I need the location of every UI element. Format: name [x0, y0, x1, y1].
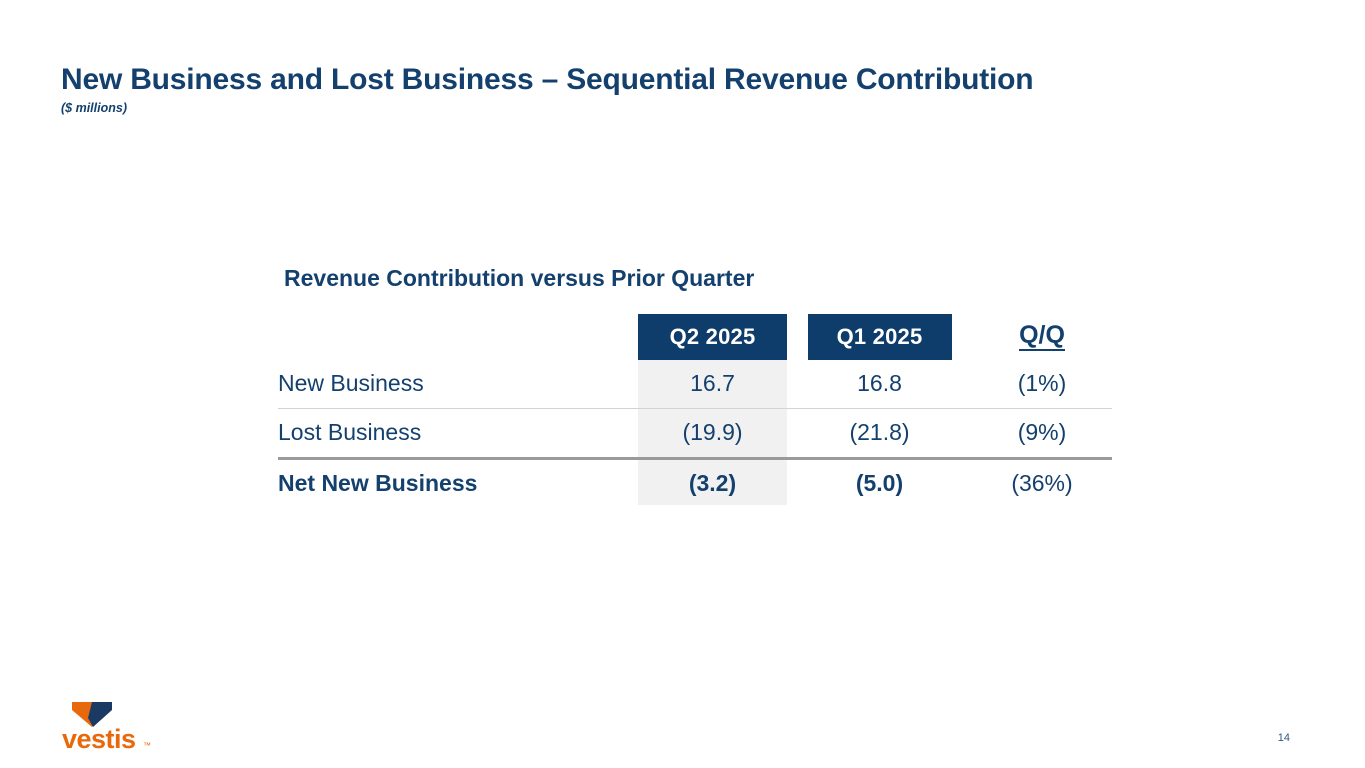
row-label-lost-business: Lost Business — [278, 408, 638, 458]
revenue-contribution-table: Q2 2025 Q1 2025 Q/Q New Business 16.7 16… — [278, 314, 1112, 508]
cell-lost-business-qq: (9%) — [972, 408, 1112, 458]
table-row: Net New Business (3.2) (5.0) (36%) — [278, 458, 1112, 508]
header-cell-qq: Q/Q — [972, 314, 1112, 360]
row-label-new-business: New Business — [278, 360, 638, 409]
header-label-qq: Q/Q — [1019, 322, 1065, 351]
cell-new-business-qq: (1%) — [972, 360, 1112, 409]
vestis-logo-mark: vestis ™ — [62, 700, 154, 752]
units-note: ($ millions) — [61, 102, 1033, 115]
slide-canvas: New Business and Lost Business – Sequent… — [0, 0, 1365, 768]
table-row: New Business 16.7 16.8 (1%) — [278, 360, 1112, 409]
cell-lost-business-q2: (19.9) — [638, 408, 787, 458]
title-block: New Business and Lost Business – Sequent… — [61, 63, 1033, 115]
cell-net-new-business-qq: (36%) — [972, 458, 1112, 508]
page-number: 14 — [1278, 732, 1290, 744]
header-badge-q2: Q2 2025 — [638, 314, 787, 360]
table-heading: Revenue Contribution versus Prior Quarte… — [284, 265, 1118, 293]
svg-text:vestis: vestis — [62, 724, 136, 752]
page-title: New Business and Lost Business – Sequent… — [61, 63, 1033, 96]
cell-net-new-business-q2: (3.2) — [638, 458, 787, 508]
table-header-row: Q2 2025 Q1 2025 Q/Q — [278, 314, 1112, 360]
vestis-logo: vestis ™ — [62, 700, 154, 752]
header-badge-q1: Q1 2025 — [808, 314, 952, 360]
header-cell-q1: Q1 2025 — [787, 314, 972, 360]
header-blank-cell — [278, 314, 638, 360]
row-label-net-new-business: Net New Business — [278, 458, 638, 508]
svg-text:™: ™ — [143, 741, 151, 750]
cell-new-business-q2: 16.7 — [638, 360, 787, 409]
cell-new-business-q1: 16.8 — [787, 360, 972, 409]
cell-net-new-business-q1: (5.0) — [787, 458, 972, 508]
table-row: Lost Business (19.9) (21.8) (9%) — [278, 408, 1112, 458]
header-cell-q2: Q2 2025 — [638, 314, 787, 360]
revenue-table-section: Revenue Contribution versus Prior Quarte… — [278, 265, 1118, 508]
cell-lost-business-q1: (21.8) — [787, 408, 972, 458]
